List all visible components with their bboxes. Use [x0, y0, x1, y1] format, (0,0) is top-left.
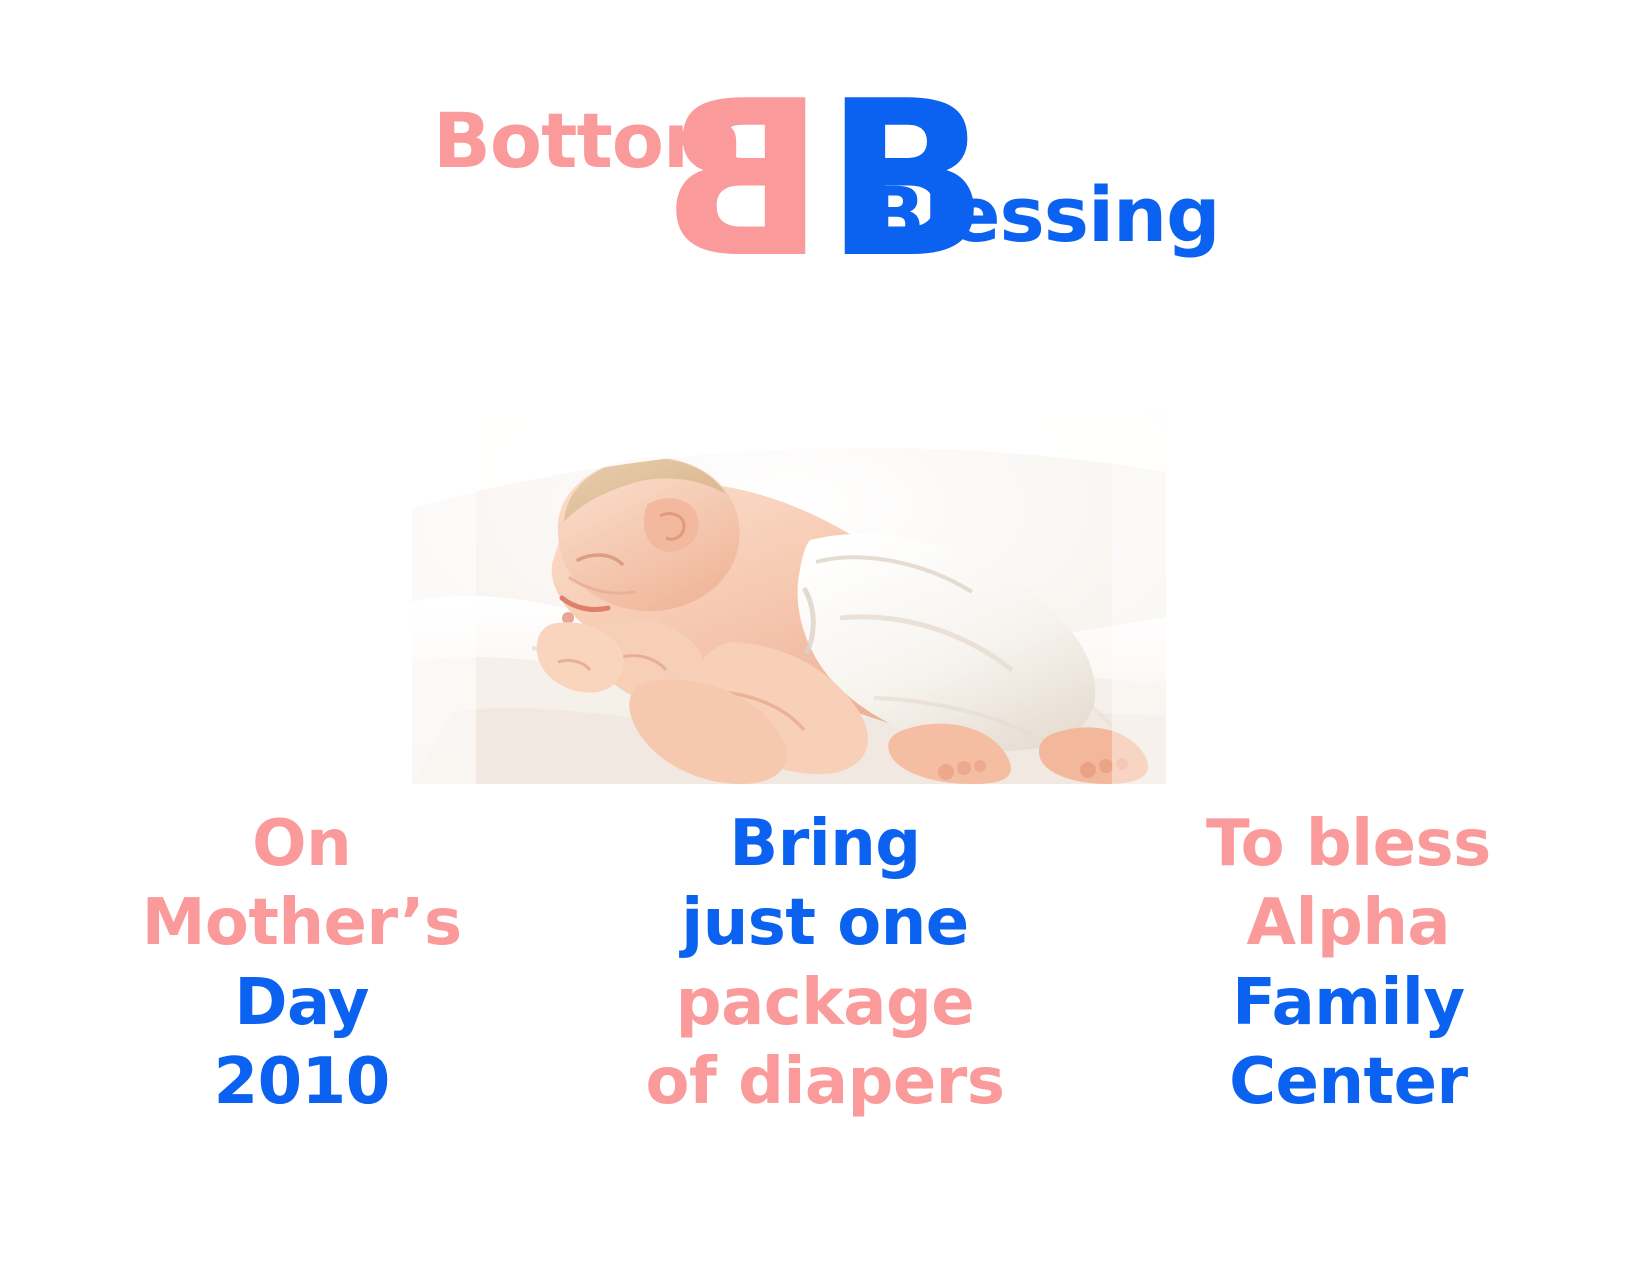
flyer-slide: Bottom B B Blessing [0, 0, 1650, 1275]
message-line: just one [563, 884, 1086, 963]
message-line: package [563, 964, 1086, 1043]
message-line: Day [40, 964, 563, 1043]
message-column-1: On Mother’s Day 2010 [40, 805, 563, 1122]
message-columns: On Mother’s Day 2010 Bring just one pack… [40, 805, 1610, 1155]
message-column-2: Bring just one package of diapers [563, 805, 1086, 1122]
message-line: Bring [563, 805, 1086, 884]
message-line: On [40, 805, 563, 884]
message-line: Mother’s [40, 884, 563, 963]
baby-photo [412, 412, 1166, 784]
brand-logo: Bottom B B Blessing [425, 95, 1185, 275]
message-line: Family [1087, 964, 1610, 1043]
message-line: To bless [1087, 805, 1610, 884]
logo-monogram-left-b: B [661, 103, 825, 258]
message-line: of diapers [563, 1043, 1086, 1122]
message-line: Center [1087, 1043, 1610, 1122]
message-line: 2010 [40, 1043, 563, 1122]
message-line: Alpha [1087, 884, 1610, 963]
logo-word-blessing: Blessing [867, 177, 1220, 253]
message-column-3: To bless Alpha Family Center [1087, 805, 1610, 1122]
